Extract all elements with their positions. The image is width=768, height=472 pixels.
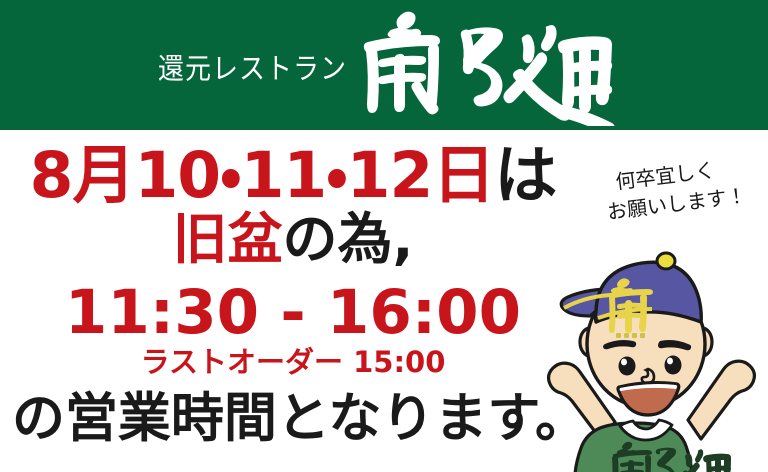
mascot-mouth <box>618 383 679 415</box>
date-line: 8月10・11・12日は <box>0 144 586 207</box>
brand-logo-calligraphy <box>352 0 620 126</box>
business-hours: 11:30 - 16:00 <box>0 282 586 343</box>
reason-line: 旧盆の為, <box>0 212 586 267</box>
date-line-black: は <box>494 139 556 212</box>
date-line-red: 8月10・11・12日 <box>30 139 495 212</box>
header-band: 還元レストラン <box>0 0 768 130</box>
reason-line-black: の為, <box>283 207 414 271</box>
last-order-note: ラストオーダー 15:00 <box>0 348 586 377</box>
brand-subtitle: 還元レストラン <box>158 46 347 87</box>
closing-line: の営業時間となります。 <box>0 392 600 445</box>
reason-line-red: 旧盆 <box>173 207 283 271</box>
mascot-illustration <box>520 232 768 472</box>
header-inner: 還元レストラン <box>0 0 768 130</box>
holiday-hours-banner: 還元レストラン <box>0 0 768 472</box>
